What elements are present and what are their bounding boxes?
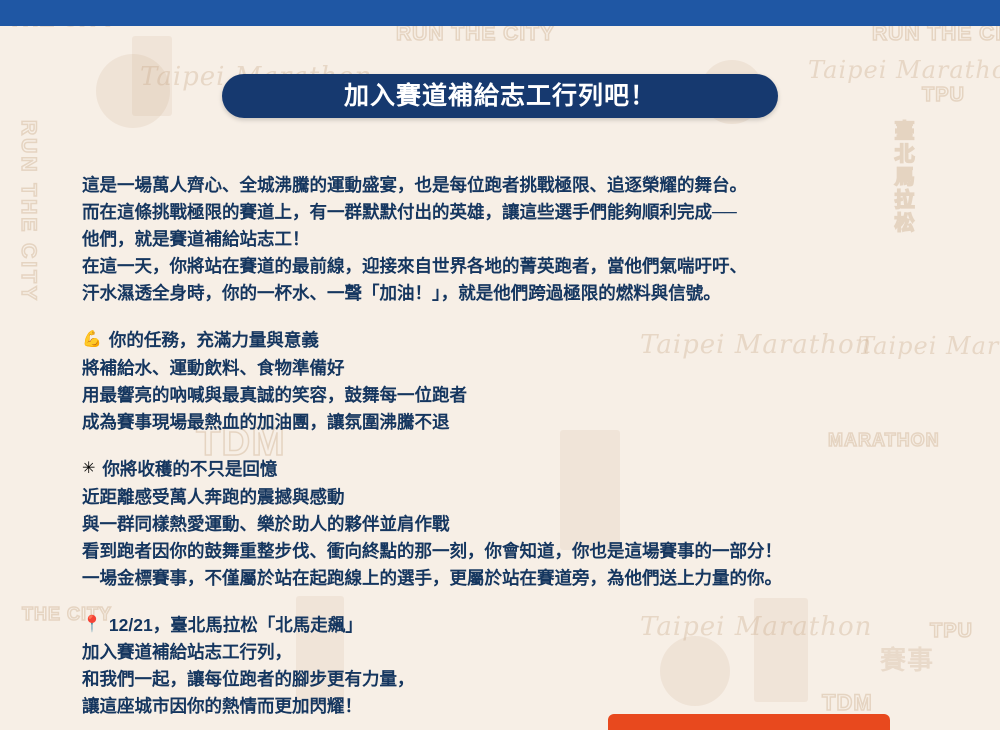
decor-rect-4 (132, 36, 172, 116)
intro-line: 他們，就是賽道補給站志工！ (82, 226, 942, 253)
intro-line: 汗水濕透全身時，你的一杯水、一聲「加油！」，就是他們跨過極限的燃料與信號。 (82, 280, 942, 307)
poster-content: 這是一場萬人齊心、全城沸騰的運動盛宴，也是每位跑者挑戰極限、追逐榮耀的舞台。 而… (82, 172, 942, 720)
top-band (0, 0, 1000, 26)
section-line: 近距離感受萬人奔跑的震撼與感動 (82, 484, 942, 511)
flexed-biceps-icon: 💪 (82, 332, 102, 348)
section-line: 加入賽道補給站志工行列， (82, 639, 942, 666)
page-title: 加入賽道補給志工行列吧！ (344, 84, 656, 109)
watermark-tpu: TPU (922, 84, 965, 107)
section-line: 用最響亮的吶喊與最真誠的笑容，鼓舞每一位跑者 (82, 382, 942, 409)
intro-line: 在這一天，你將站在賽道的最前線，迎接來自世界各地的菁英跑者，當他們氣喘吁吁、 (82, 253, 942, 280)
section-line: 與一群同樣熱愛運動、樂於助人的夥伴並肩作戰 (82, 511, 942, 538)
section-heading-text: 你的任務，充滿力量與意義 (109, 329, 319, 352)
section-line: 一場金標賽事，不僅屬於站在起跑線上的選手，更屬於站在賽道旁，為他們送上力量的你。 (82, 565, 942, 592)
section-heading: ✳ 你將收穫的不只是回憶 (82, 458, 942, 481)
intro-line: 而在這條挑戰極限的賽道上，有一群默默付出的英雄，讓這些選手們能夠順利完成── (82, 199, 942, 226)
sparkle-icon: ✳ (82, 461, 95, 477)
watermark-taipei-marathon-script-2: Taipei Marathon (808, 56, 1000, 84)
section-line: 將補給水、運動飲料、食物準備好 (82, 355, 942, 382)
poster-page: THE CITY RUN THE CITY RUN THE CITY Taipe… (0, 0, 1000, 730)
decor-blob-1 (96, 54, 170, 128)
section-heading: 💪 你的任務，充滿力量與意義 (82, 329, 942, 352)
section-event: 📍 12/21，臺北馬拉松「北馬走飆」 加入賽道補給站志工行列， 和我們一起，讓… (82, 614, 942, 721)
section-mission: 💪 你的任務，充滿力量與意義 將補給水、運動飲料、食物準備好 用最響亮的吶喊與最… (82, 329, 942, 436)
watermark-run-the-city-vertical: RUN THE CITY (16, 120, 40, 303)
cta-button[interactable] (608, 714, 890, 730)
location-pin-icon: 📍 (82, 617, 102, 633)
title-banner: 加入賽道補給志工行列吧！ (222, 74, 778, 118)
section-line: 和我們一起，讓每位跑者的腳步更有力量， (82, 666, 942, 693)
section-heading-text: 12/21，臺北馬拉松「北馬走飆」 (109, 614, 363, 637)
section-rewards: ✳ 你將收穫的不只是回憶 近距離感受萬人奔跑的震撼與感動 與一群同樣熱愛運動、樂… (82, 458, 942, 592)
section-heading: 📍 12/21，臺北馬拉松「北馬走飆」 (82, 614, 942, 637)
section-line: 成為賽事現場最熱血的加油團，讓氛圍沸騰不退 (82, 409, 942, 436)
intro-line: 這是一場萬人齊心、全城沸騰的運動盛宴，也是每位跑者挑戰極限、追逐榮耀的舞台。 (82, 172, 942, 199)
intro-paragraph: 這是一場萬人齊心、全城沸騰的運動盛宴，也是每位跑者挑戰極限、追逐榮耀的舞台。 而… (82, 172, 942, 307)
section-heading-text: 你將收穫的不只是回憶 (102, 458, 277, 481)
section-line: 看到跑者因你的鼓舞重整步伐、衝向終點的那一刻，你會知道，你也是這場賽事的一部分！ (82, 538, 942, 565)
